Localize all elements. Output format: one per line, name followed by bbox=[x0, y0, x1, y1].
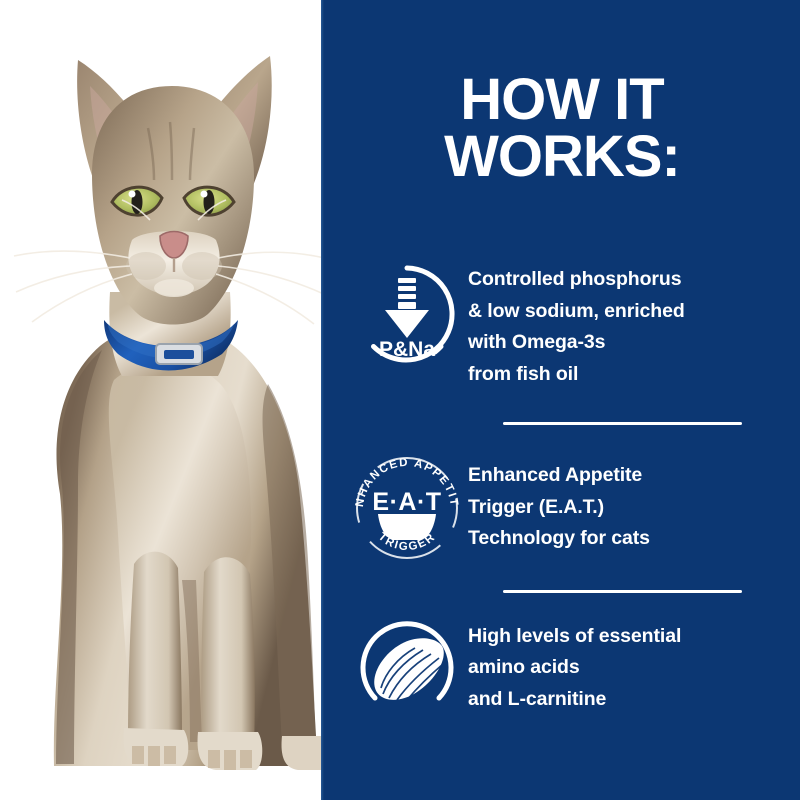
badge-center-text: E·A·T bbox=[372, 488, 441, 516]
cat-illustration bbox=[0, 24, 322, 800]
benefit-line: with Omega-3s bbox=[468, 327, 786, 359]
benefit-list: P&Na Controlled phosphorus & low sodium,… bbox=[324, 262, 800, 743]
benefit-line: High levels of essential bbox=[468, 621, 786, 653]
muscle-fiber-amino-acid-icon bbox=[355, 616, 459, 720]
benefit-line: Technology for cats bbox=[468, 523, 786, 555]
benefit-line: from fish oil bbox=[468, 359, 786, 391]
benefit-line: Trigger (E.A.T.) bbox=[468, 492, 786, 524]
icon-label-pna: P&Na bbox=[379, 338, 435, 361]
benefit-line: amino acids bbox=[468, 652, 786, 684]
enhanced-appetite-trigger-badge-icon: ENHANCED APPETITE TRIGGER E·A·T bbox=[351, 452, 463, 564]
benefit-text: Enhanced Appetite Trigger (E.A.T.) Techn… bbox=[468, 460, 786, 555]
benefit-line: Enhanced Appetite bbox=[468, 460, 786, 492]
page-title: HOW IT WORKS: bbox=[324, 72, 800, 186]
benefit-row-amino-acids: High levels of essential amino acids and… bbox=[324, 593, 800, 743]
cat-photo-panel bbox=[0, 0, 322, 800]
benefit-icon-slot: P&Na bbox=[346, 262, 468, 366]
benefit-icon-slot: ENHANCED APPETITE TRIGGER E·A·T bbox=[346, 452, 468, 564]
benefit-line: and L-carnitine bbox=[468, 684, 786, 716]
cat-image bbox=[0, 24, 322, 800]
benefit-row-phosphorus-sodium: P&Na Controlled phosphorus & low sodium,… bbox=[324, 262, 800, 422]
cat-chin bbox=[154, 279, 194, 297]
benefit-text: Controlled phosphorus & low sodium, enri… bbox=[468, 262, 786, 390]
headline-line-2: WORKS: bbox=[324, 129, 800, 186]
benefit-icon-slot bbox=[346, 616, 468, 720]
how-it-works-infographic: HOW IT WORKS: bbox=[0, 0, 800, 800]
benefit-text: High levels of essential amino acids and… bbox=[468, 621, 786, 716]
benefit-line: & low sodium, enriched bbox=[468, 296, 786, 328]
benefit-row-eat-technology: ENHANCED APPETITE TRIGGER E·A·T Enhanced… bbox=[324, 425, 800, 590]
benefit-line: Controlled phosphorus bbox=[468, 264, 786, 296]
phosphorus-sodium-down-arrow-icon: P&Na bbox=[355, 262, 459, 366]
info-panel: HOW IT WORKS: bbox=[324, 0, 800, 800]
headline-line-1: HOW IT bbox=[460, 67, 663, 132]
